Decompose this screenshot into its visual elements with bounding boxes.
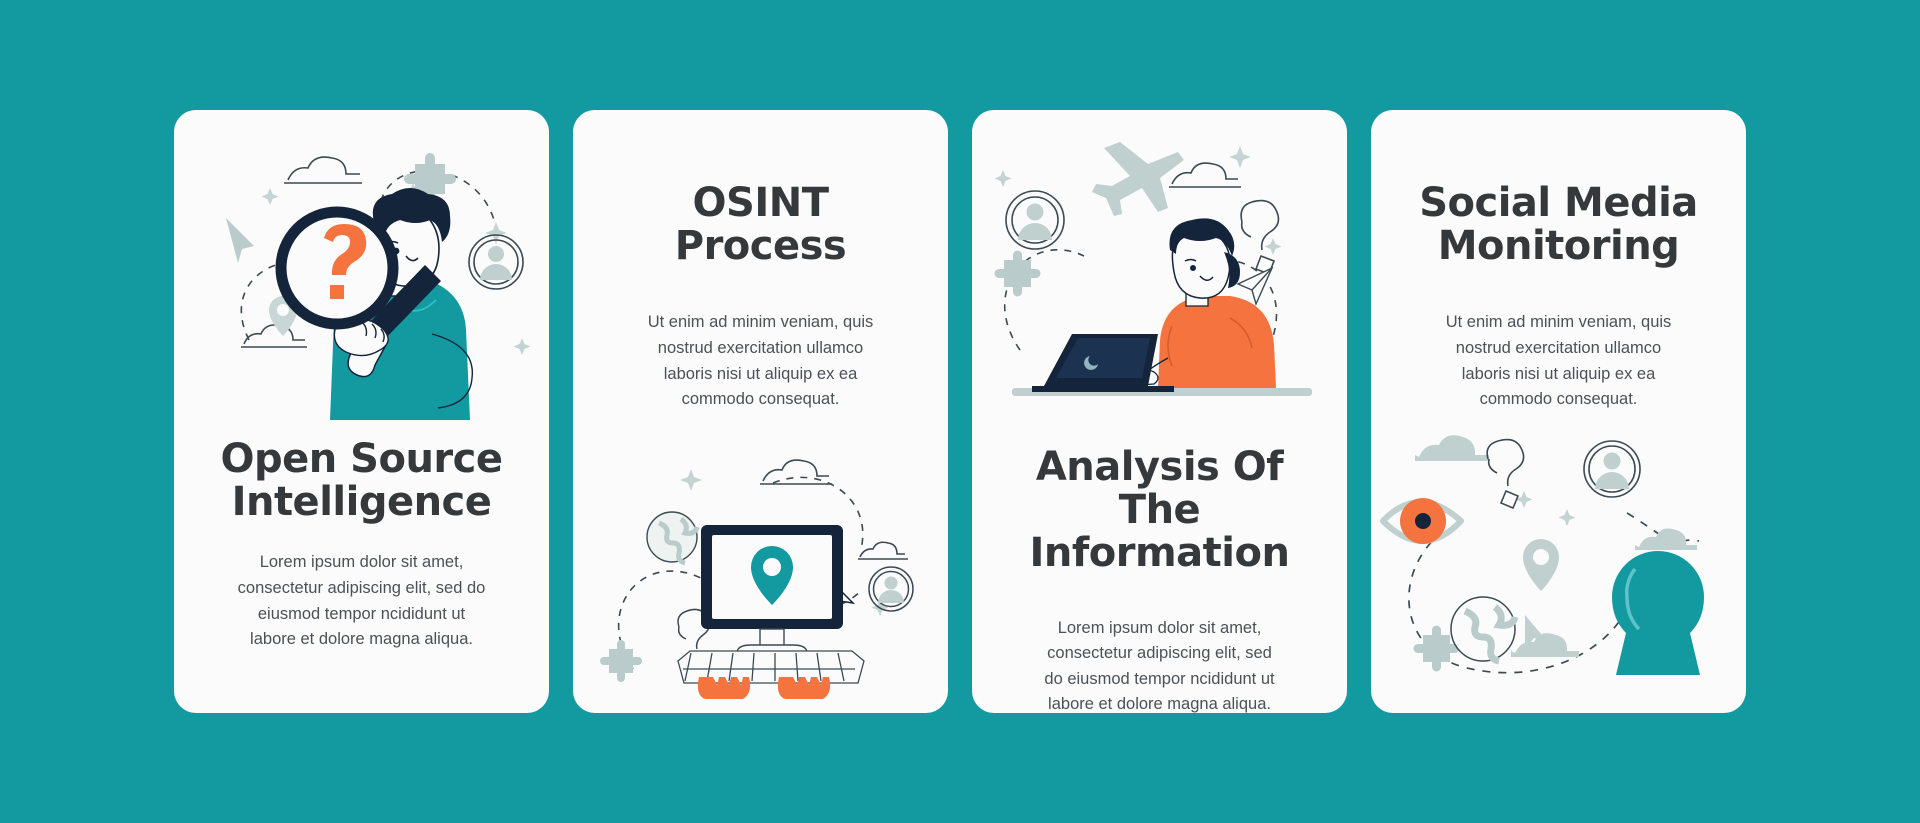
globe-icon — [1451, 597, 1515, 661]
question-mark-icon — [1487, 439, 1523, 507]
cursor-arrow-icon — [226, 218, 254, 263]
map-pin-icon — [1523, 539, 1559, 591]
card-text-block: Open SourceIntelligence Lorem ipsum dolo… — [174, 430, 549, 653]
card-open-source-intelligence[interactable]: Open SourceIntelligence Lorem ipsum dolo… — [174, 110, 549, 713]
puzzle-piece-icon — [600, 640, 642, 682]
cloud-icon — [284, 157, 362, 183]
cloud-icon — [241, 325, 307, 347]
page-title: Open SourceIntelligence — [204, 438, 519, 524]
monitor-icon — [701, 525, 843, 653]
card-osint-process[interactable]: OSINTProcess Ut enim ad minim veniam, qu… — [573, 110, 948, 713]
page-title: Social MediaMonitoring — [1401, 182, 1716, 268]
page-title: Analysis OfThe Information — [1002, 446, 1317, 576]
person-illustration — [281, 188, 472, 420]
keyhole-icon — [1612, 551, 1704, 675]
avatar-icon — [1006, 191, 1064, 249]
puzzle-piece-icon — [995, 251, 1041, 297]
illustration-woman-at-laptop — [972, 110, 1347, 428]
globe-icon — [647, 512, 697, 563]
avatar-icon — [869, 567, 913, 611]
cloud-icon — [1635, 528, 1697, 549]
illustration-eye-keyhole-network — [1371, 423, 1746, 693]
airplane-icon — [1092, 142, 1184, 216]
cloud-icon — [1511, 633, 1579, 657]
illustration-monitor-keyboard — [573, 439, 948, 699]
cloud-icon — [1415, 435, 1489, 461]
card-text-block: Analysis OfThe Information Lorem ipsum d… — [972, 428, 1347, 713]
card-body-text: Lorem ipsum dolor sit amet, consectetur … — [204, 550, 519, 652]
avatar-icon — [1584, 441, 1640, 497]
page-title: OSINTProcess — [603, 182, 918, 268]
cloud-icon — [858, 542, 908, 559]
cloud-icon — [1169, 163, 1241, 187]
card-text-block: Social MediaMonitoring Ut enim ad minim … — [1371, 110, 1746, 413]
card-social-media-monitoring[interactable]: Social MediaMonitoring Ut enim ad minim … — [1371, 110, 1746, 713]
eye-icon — [1383, 498, 1461, 544]
illustration-man-with-magnifier — [174, 110, 549, 430]
card-analysis-of-the-information[interactable]: Analysis OfThe Information Lorem ipsum d… — [972, 110, 1347, 713]
card-body-text: Ut enim ad minim veniam, quis nostrud ex… — [603, 310, 918, 412]
card-body-text: Lorem ipsum dolor sit amet, consectetur … — [1002, 616, 1317, 713]
person-illustration — [1032, 218, 1276, 392]
card-body-text: Ut enim ad minim veniam, quis nostrud ex… — [1401, 310, 1716, 412]
banner-set: Open SourceIntelligence Lorem ipsum dolo… — [0, 0, 1920, 823]
question-mark-icon — [1241, 201, 1278, 274]
sparkle-icon — [1516, 491, 1576, 526]
cloud-icon — [760, 460, 832, 484]
paper-plane-icon — [1238, 268, 1272, 304]
card-text-block: OSINTProcess Ut enim ad minim veniam, qu… — [573, 110, 948, 413]
